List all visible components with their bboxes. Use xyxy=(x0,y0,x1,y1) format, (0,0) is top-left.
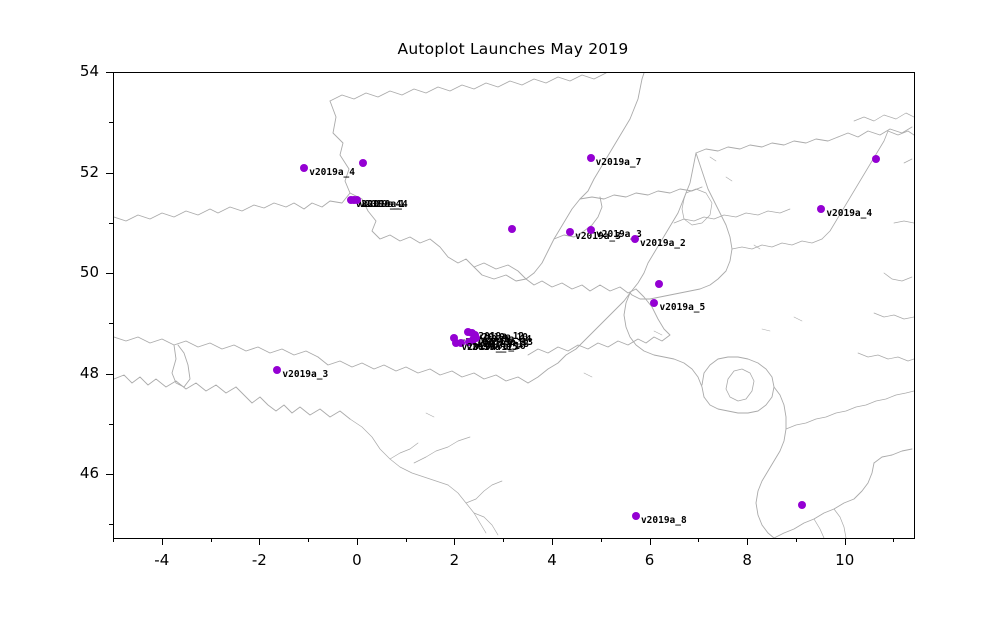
scatter-point[interactable] xyxy=(798,501,806,509)
scatter-points-layer: v2019a_4v2019a_4v2019a_1v2019a_4v2019a_7… xyxy=(114,73,914,538)
figure-canvas: Autoplot Launches May 2019 xyxy=(0,0,1003,633)
x-tick-minor xyxy=(406,538,407,542)
x-tick-major xyxy=(552,538,553,545)
y-tick-major xyxy=(106,374,113,375)
y-tick-major xyxy=(106,173,113,174)
x-tick-minor xyxy=(503,538,504,542)
scatter-point[interactable] xyxy=(508,225,516,233)
y-tick-major xyxy=(106,474,113,475)
y-tick-label: 48 xyxy=(31,364,99,382)
x-tick-major xyxy=(747,538,748,545)
scatter-point[interactable] xyxy=(566,228,574,236)
scatter-point[interactable] xyxy=(359,159,367,167)
scatter-point[interactable] xyxy=(300,164,308,172)
x-tick-label: -2 xyxy=(219,551,299,569)
x-tick-major xyxy=(845,538,846,545)
scatter-point[interactable] xyxy=(632,512,640,520)
scatter-point-label: v2019a_17 xyxy=(461,343,512,353)
x-tick-major xyxy=(162,538,163,545)
x-tick-major xyxy=(357,538,358,545)
scatter-point[interactable] xyxy=(587,154,595,162)
y-tick-minor xyxy=(109,524,113,525)
scatter-point-label: v2019a_2 xyxy=(640,239,686,249)
x-tick-label: -4 xyxy=(122,551,202,569)
y-tick-label: 46 xyxy=(31,464,99,482)
x-tick-label: 2 xyxy=(414,551,494,569)
scatter-point[interactable] xyxy=(587,226,595,234)
scatter-point[interactable] xyxy=(353,196,361,204)
x-tick-label: 8 xyxy=(707,551,787,569)
scatter-point-label: v2019a_4 xyxy=(826,209,872,219)
scatter-point[interactable] xyxy=(872,155,880,163)
scatter-point-label: v2019a_4 xyxy=(309,168,355,178)
y-tick-major xyxy=(106,72,113,73)
y-tick-minor xyxy=(109,424,113,425)
x-tick-minor xyxy=(113,538,114,542)
scatter-point[interactable] xyxy=(273,366,281,374)
x-tick-minor xyxy=(893,538,894,542)
x-tick-minor xyxy=(211,538,212,542)
y-tick-label: 50 xyxy=(31,263,99,281)
x-tick-label: 10 xyxy=(805,551,885,569)
scatter-point-label: v2019a_3 xyxy=(282,370,328,380)
x-tick-label: 6 xyxy=(610,551,690,569)
y-tick-label: 52 xyxy=(31,163,99,181)
x-tick-major xyxy=(454,538,455,545)
y-tick-minor xyxy=(109,323,113,324)
x-tick-minor xyxy=(698,538,699,542)
scatter-point-label: v2019a_7 xyxy=(596,158,642,168)
x-tick-label: 4 xyxy=(512,551,592,569)
x-tick-label: 0 xyxy=(317,551,397,569)
x-tick-major xyxy=(259,538,260,545)
x-tick-minor xyxy=(601,538,602,542)
scatter-point-label: v2019a_8 xyxy=(641,516,687,526)
y-tick-minor xyxy=(109,122,113,123)
x-tick-minor xyxy=(796,538,797,542)
scatter-point-label: v2019a_4 xyxy=(362,200,408,210)
y-tick-major xyxy=(106,273,113,274)
scatter-point[interactable] xyxy=(631,235,639,243)
scatter-point[interactable] xyxy=(650,299,658,307)
scatter-point-label: v2019a_5 xyxy=(659,303,705,313)
scatter-point[interactable] xyxy=(817,205,825,213)
y-tick-minor xyxy=(109,223,113,224)
scatter-point[interactable] xyxy=(655,280,663,288)
page-title: Autoplot Launches May 2019 xyxy=(113,40,913,58)
plot-axes-area[interactable]: v2019a_4v2019a_4v2019a_1v2019a_4v2019a_7… xyxy=(113,72,915,539)
x-tick-minor xyxy=(308,538,309,542)
x-tick-major xyxy=(650,538,651,545)
scatter-point[interactable] xyxy=(452,339,460,347)
y-tick-label: 54 xyxy=(31,62,99,80)
